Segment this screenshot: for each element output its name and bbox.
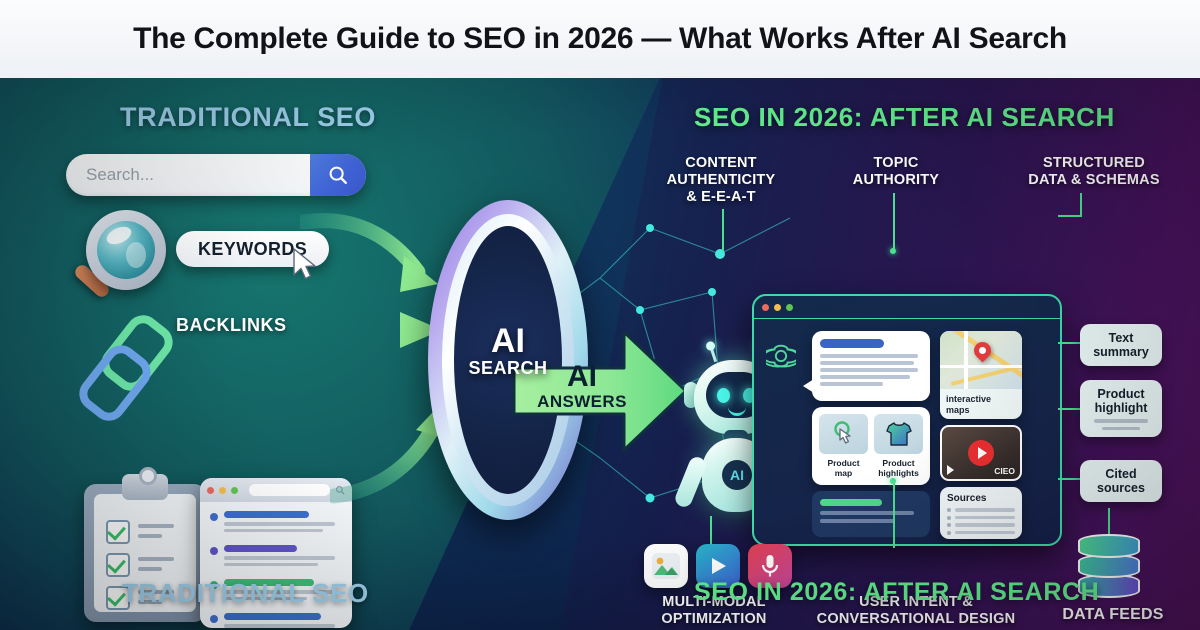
infographic-canvas: TRADITIONAL SEO Search... KEYWORDS [0, 78, 1200, 630]
infographic-root: The Complete Guide to SEO in 2026 — What… [0, 0, 1200, 630]
vignette-overlay [0, 78, 1200, 630]
portal-label-ai: AI [428, 324, 588, 358]
title-bar: The Complete Guide to SEO in 2026 — What… [0, 0, 1200, 78]
page-title: The Complete Guide to SEO in 2026 — What… [133, 22, 1067, 56]
portal-label-search: SEARCH [428, 358, 588, 379]
